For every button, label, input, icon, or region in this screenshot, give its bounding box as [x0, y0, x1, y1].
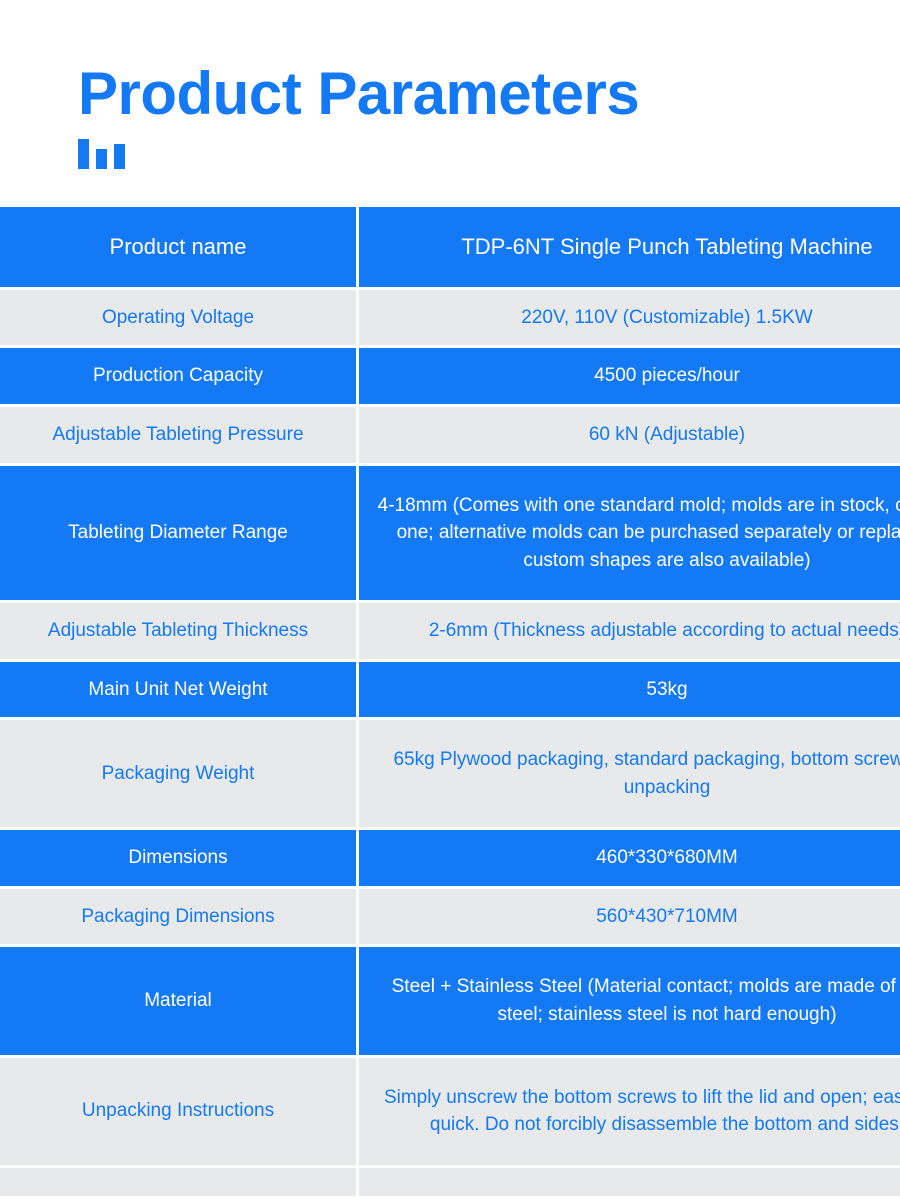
table-row: Main Unit Net Weight53kg — [0, 662, 900, 721]
product-parameters-table: Product name TDP-6NT Single Punch Tablet… — [0, 207, 900, 1199]
product-parameters-page: Product Parameters Product name TDP-6NT … — [0, 0, 900, 1152]
table-body: Product name TDP-6NT Single Punch Tablet… — [0, 207, 900, 1199]
row-label: Tableting Diameter Range — [0, 466, 359, 604]
row-label: Dimensions — [0, 830, 359, 889]
row-value: 4-18mm (Comes with one standard mold; mo… — [359, 466, 900, 604]
row-label: Main Unit Net Weight — [0, 662, 359, 721]
table-header-label: Product name — [0, 207, 359, 290]
accent-bar-1 — [78, 139, 89, 169]
row-value: 560*430*710MM — [359, 889, 900, 948]
row-label: Operating Voltage — [0, 290, 359, 349]
row-value: Steel + Stainless Steel (Material contac… — [359, 947, 900, 1057]
bar-accent-icon — [78, 137, 900, 169]
table-row: Adjustable Tableting Pressure60 kN (Adju… — [0, 407, 900, 466]
row-value: Simply unscrew the bottom screws to lift… — [359, 1058, 900, 1168]
page-header: Product Parameters — [0, 0, 900, 169]
table-row — [0, 1168, 900, 1199]
row-value: 4500 pieces/hour — [359, 348, 900, 407]
table-row: Tableting Diameter Range4-18mm (Comes wi… — [0, 466, 900, 604]
row-value: 60 kN (Adjustable) — [359, 407, 900, 466]
row-label: Adjustable Tableting Thickness — [0, 603, 359, 662]
row-value — [359, 1168, 900, 1199]
row-value: 65kg Plywood packaging, standard packagi… — [359, 720, 900, 830]
row-label: Production Capacity — [0, 348, 359, 407]
row-label: Packaging Dimensions — [0, 889, 359, 948]
row-value: 2-6mm (Thickness adjustable according to… — [359, 603, 900, 662]
table-row: Packaging Weight65kg Plywood packaging, … — [0, 720, 900, 830]
table-row: Packaging Dimensions560*430*710MM — [0, 889, 900, 948]
row-value: 220V, 110V (Customizable) 1.5KW — [359, 290, 900, 349]
table-header-row: Product name TDP-6NT Single Punch Tablet… — [0, 207, 900, 290]
table-row: Operating Voltage220V, 110V (Customizabl… — [0, 290, 900, 349]
accent-bar-3 — [114, 144, 125, 169]
accent-bar-2 — [96, 149, 107, 169]
row-label: Material — [0, 947, 359, 1057]
row-label — [0, 1168, 359, 1199]
table-header-value: TDP-6NT Single Punch Tableting Machine — [359, 207, 900, 290]
table-row: MaterialSteel + Stainless Steel (Materia… — [0, 947, 900, 1057]
table-row: Adjustable Tableting Thickness2-6mm (Thi… — [0, 603, 900, 662]
row-label: Packaging Weight — [0, 720, 359, 830]
table-row: Unpacking InstructionsSimply unscrew the… — [0, 1058, 900, 1168]
row-label: Adjustable Tableting Pressure — [0, 407, 359, 466]
row-value: 53kg — [359, 662, 900, 721]
row-label: Unpacking Instructions — [0, 1058, 359, 1168]
row-value: 460*330*680MM — [359, 830, 900, 889]
table-row: Dimensions460*330*680MM — [0, 830, 900, 889]
page-title: Product Parameters — [78, 62, 900, 125]
table-row: Production Capacity4500 pieces/hour — [0, 348, 900, 407]
